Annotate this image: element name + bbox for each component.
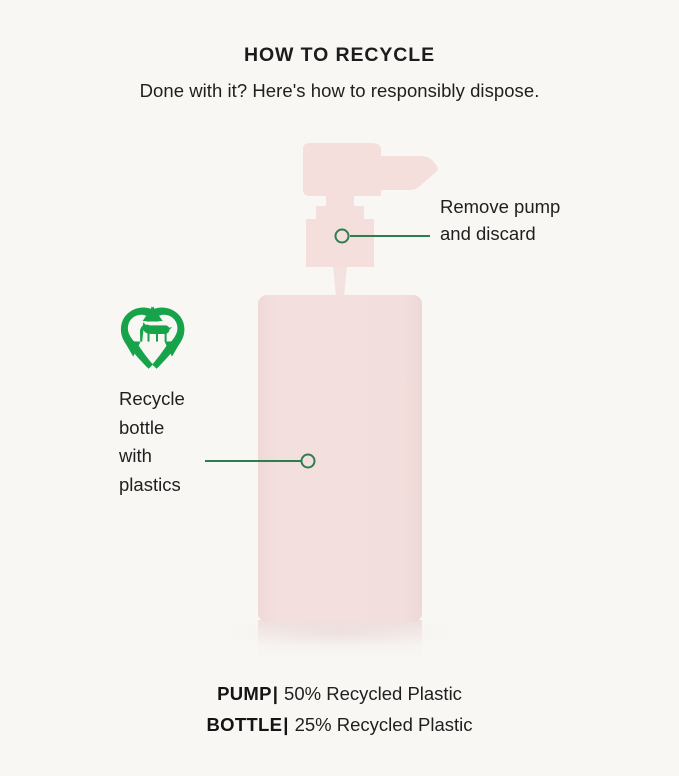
callout-bottle-line-4: plastics bbox=[119, 471, 229, 500]
material-separator-pump: | bbox=[272, 683, 279, 704]
pump-bottle-illustration bbox=[0, 0, 679, 776]
recycle-heart-dog-icon bbox=[121, 306, 185, 368]
callout-pump: Remove pump and discard bbox=[440, 193, 640, 247]
header: HOW TO RECYCLE Done with it? Here's how … bbox=[0, 44, 679, 103]
bottle-ground-shadow bbox=[220, 612, 460, 652]
material-label-pump: PUMP bbox=[217, 683, 272, 704]
material-row-bottle: BOTTLE| 25% Recycled Plastic bbox=[0, 709, 679, 740]
page-subtitle: Done with it? Here's how to responsibly … bbox=[0, 79, 679, 102]
callout-bottle-line-1: Recycle bbox=[119, 385, 229, 414]
bottle-leader-circle-icon bbox=[302, 455, 315, 468]
material-value-pump: 50% Recycled Plastic bbox=[284, 683, 462, 704]
pump-collar-shoulder bbox=[316, 206, 364, 222]
pump-dip-tube bbox=[333, 267, 347, 296]
pump-shaft bbox=[326, 196, 354, 224]
bottle-body bbox=[258, 295, 422, 622]
callout-bottle-line-2: bottle bbox=[119, 414, 229, 443]
material-summary: PUMP| 50% Recycled Plastic BOTTLE| 25% R… bbox=[0, 678, 679, 740]
page-title: HOW TO RECYCLE bbox=[0, 44, 679, 67]
pump-collar-base bbox=[306, 219, 374, 267]
material-label-bottle: BOTTLE bbox=[206, 714, 282, 735]
material-separator-bottle: | bbox=[282, 714, 289, 735]
pump-head bbox=[303, 143, 438, 196]
callout-pump-line-2: and discard bbox=[440, 220, 640, 247]
material-value-bottle: 25% Recycled Plastic bbox=[295, 714, 473, 735]
material-row-pump: PUMP| 50% Recycled Plastic bbox=[0, 678, 679, 709]
callout-pump-line-1: Remove pump bbox=[440, 193, 640, 220]
recycling-infographic: HOW TO RECYCLE Done with it? Here's how … bbox=[0, 0, 679, 776]
callout-bottle: Recycle bottle with plastics bbox=[119, 385, 229, 499]
pump-leader-circle-icon bbox=[336, 230, 349, 243]
bottle-reflection bbox=[258, 620, 422, 662]
callout-bottle-line-3: with bbox=[119, 442, 229, 471]
